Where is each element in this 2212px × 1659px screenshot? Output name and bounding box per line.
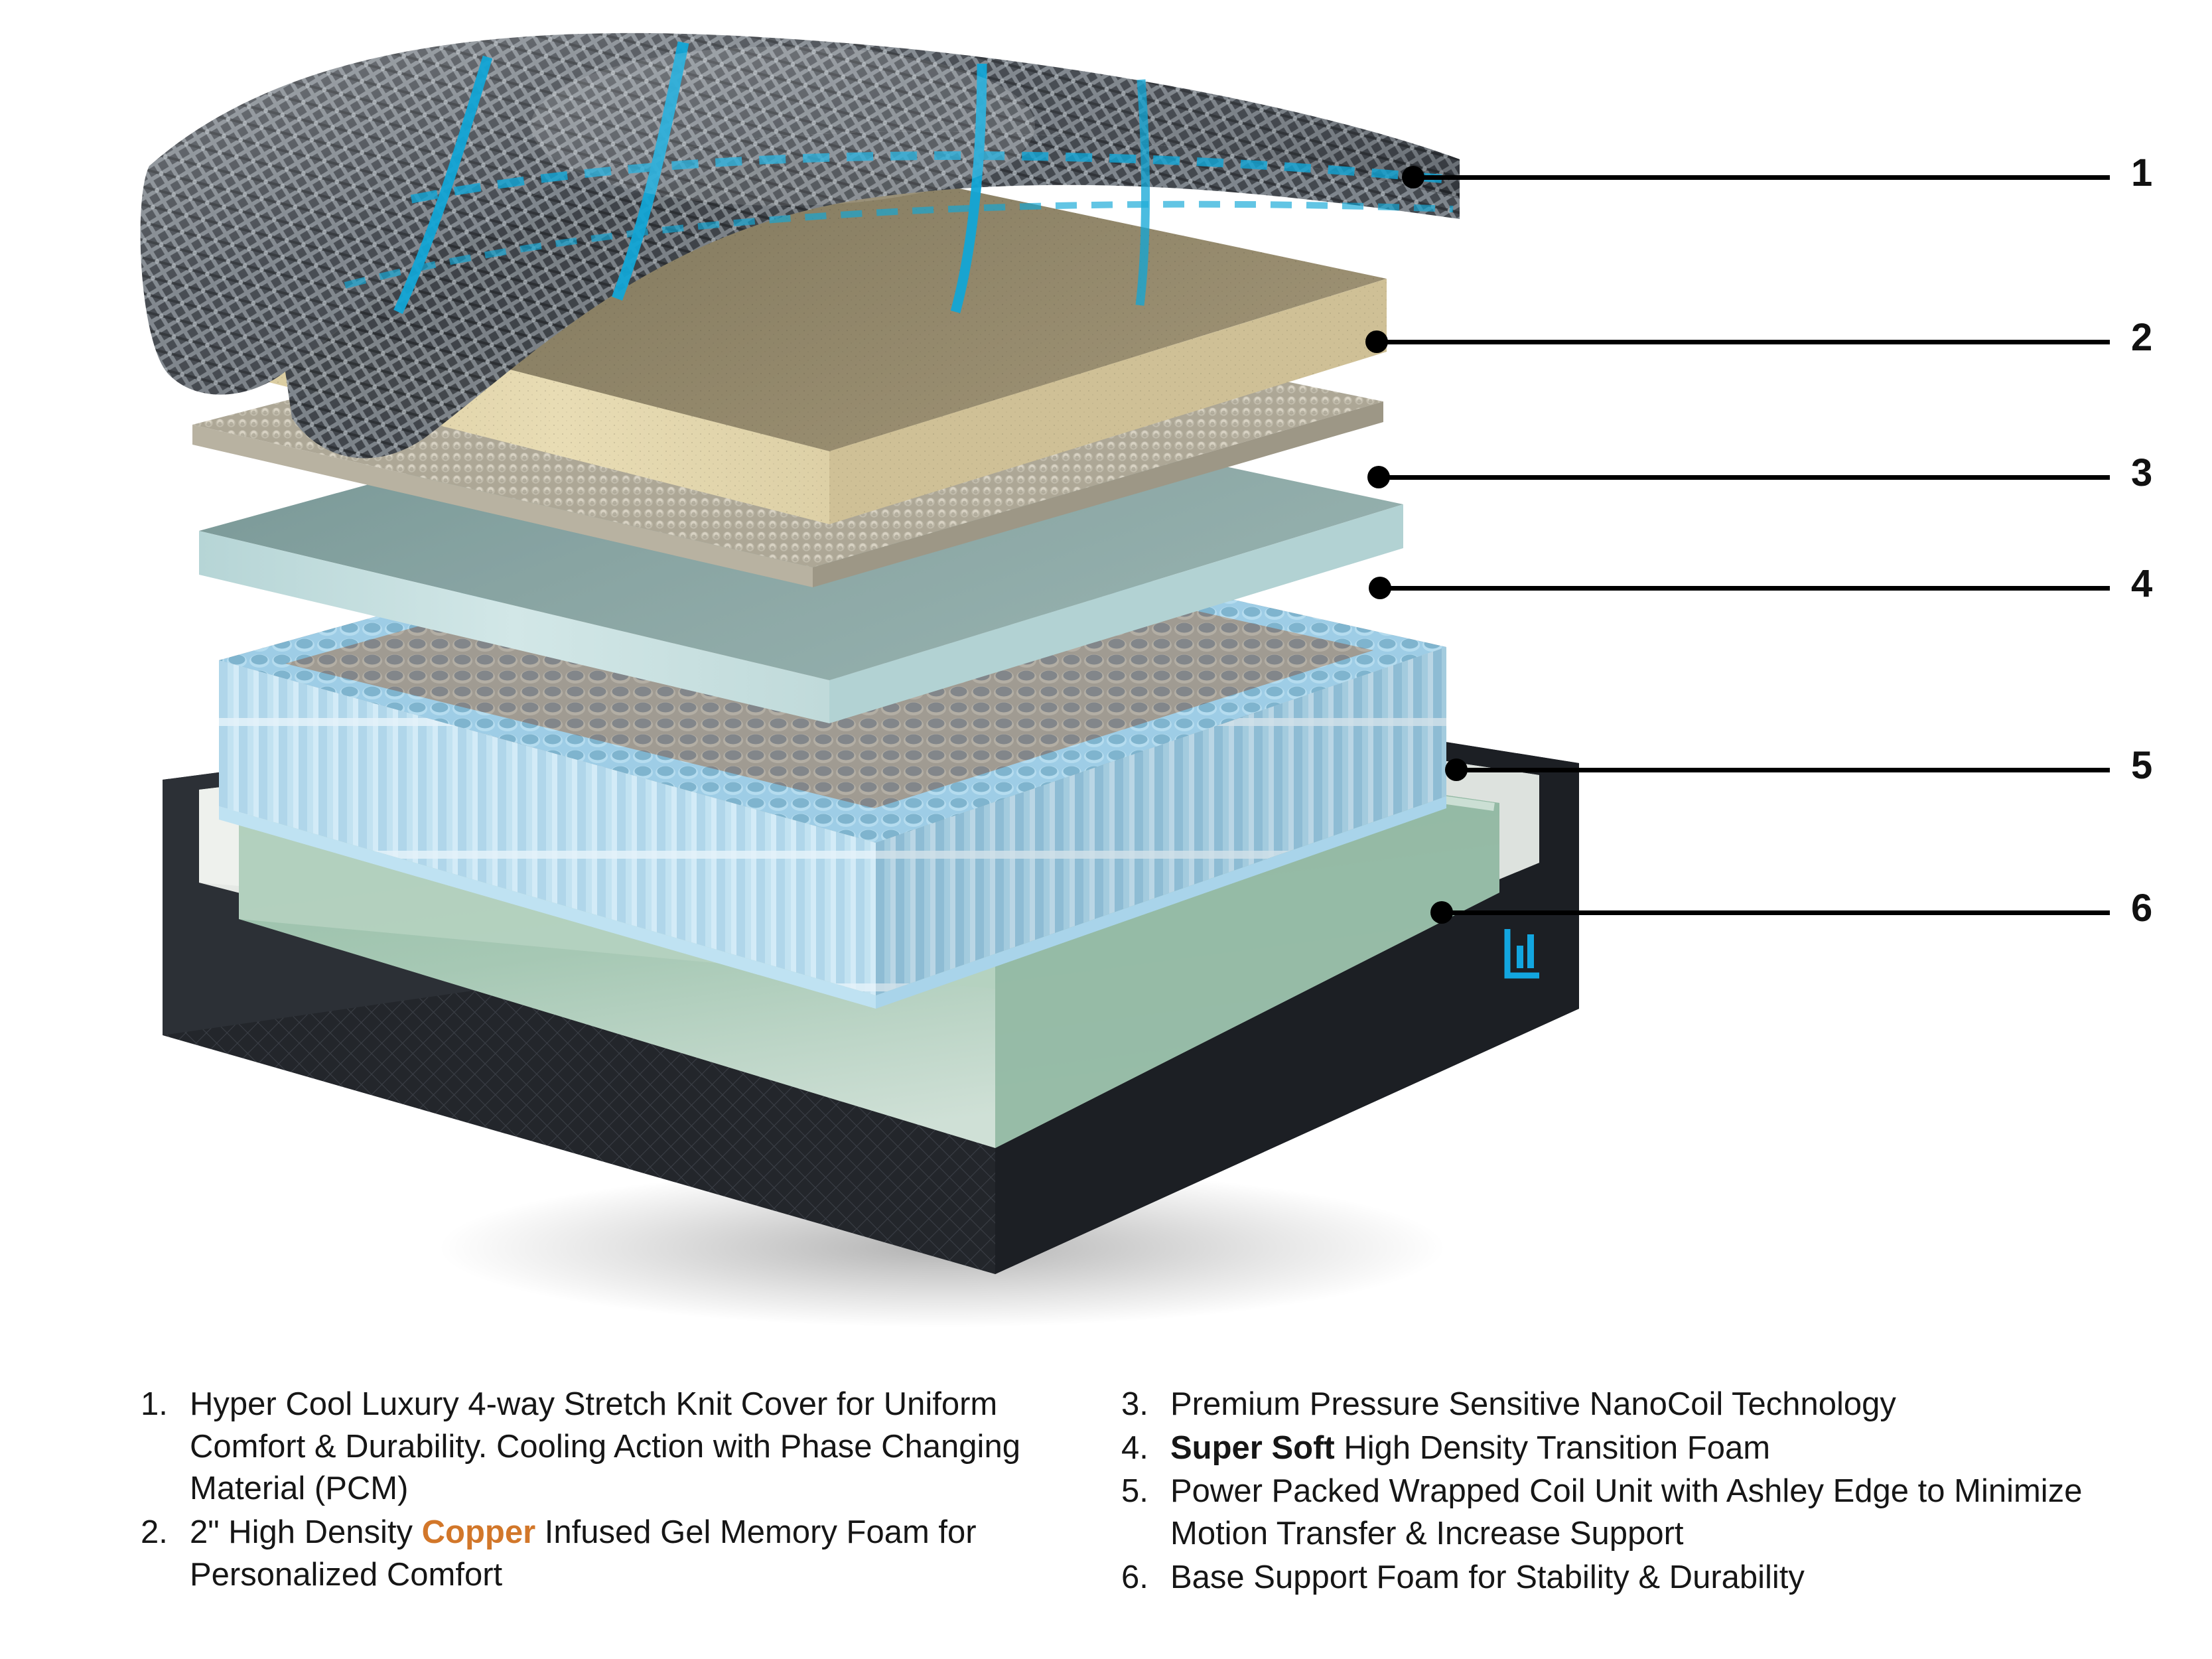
legend-marker-1: 1. [141, 1384, 190, 1426]
mattress-layer-diagram-page: 1 2 3 4 5 6 1. Hyper Cool Luxury 4-way S… [0, 0, 2212, 1659]
legend-item-3: 3. Premium Pressure Sensitive NanoCoil T… [1121, 1384, 2209, 1426]
legend-item-2: 2. 2" High Density Copper Infused Gel Me… [141, 1512, 1121, 1596]
legend-text-4: Super Soft High Density Transition Foam [1170, 1427, 2119, 1470]
legend-text-5: Power Packed Wrapped Coil Unit with Ashl… [1170, 1471, 2119, 1555]
legend-marker-6: 6. [1121, 1557, 1170, 1599]
callout-number-3: 3 [2131, 454, 2152, 492]
legend-text-2-part-a: 2" High Density [190, 1514, 422, 1550]
callout-number-4: 4 [2131, 565, 2152, 603]
legend-text-6: Base Support Foam for Stability & Durabi… [1170, 1557, 2119, 1599]
callout-number-2: 2 [2131, 319, 2152, 357]
legend-super-soft-highlight: Super Soft [1170, 1430, 1335, 1466]
legend-text-1: Hyper Cool Luxury 4-way Stretch Knit Cov… [190, 1384, 1121, 1510]
legend-marker-5: 5. [1121, 1471, 1170, 1513]
callout-number-6: 6 [2131, 889, 2152, 928]
legend-item-1: 1. Hyper Cool Luxury 4-way Stretch Knit … [141, 1384, 1121, 1510]
legend-text-3: Premium Pressure Sensitive NanoCoil Tech… [1170, 1384, 2119, 1426]
callout-line-1 [1413, 175, 2110, 180]
callout-number-1: 1 [2131, 154, 2152, 192]
legend-marker-4: 4. [1121, 1427, 1170, 1470]
callout-line-6 [1442, 910, 2110, 915]
legend-copper-highlight: Copper [422, 1514, 536, 1550]
legend-column-right: 3. Premium Pressure Sensitive NanoCoil T… [1121, 1384, 2209, 1659]
legend-item-6: 6. Base Support Foam for Stability & Dur… [1121, 1557, 2209, 1599]
callout-line-3 [1379, 475, 2110, 480]
legend: 1. Hyper Cool Luxury 4-way Stretch Knit … [0, 1384, 2212, 1659]
callout-line-4 [1380, 586, 2110, 591]
callout-number-5: 5 [2131, 747, 2152, 785]
mattress-layers-svg [0, 0, 1659, 1360]
callout-line-5 [1456, 768, 2110, 772]
legend-text-4-part-b: High Density Transition Foam [1335, 1430, 1770, 1466]
legend-marker-2: 2. [141, 1512, 190, 1554]
legend-item-4: 4. Super Soft High Density Transition Fo… [1121, 1427, 2209, 1470]
legend-marker-3: 3. [1121, 1384, 1170, 1426]
callout-line-2 [1377, 340, 2110, 344]
legend-text-2: 2" High Density Copper Infused Gel Memor… [190, 1512, 1121, 1596]
legend-column-left: 1. Hyper Cool Luxury 4-way Stretch Knit … [0, 1384, 1121, 1659]
exploded-mattress-illustration: 1 2 3 4 5 6 [0, 0, 1659, 1360]
legend-item-5: 5. Power Packed Wrapped Coil Unit with A… [1121, 1471, 2209, 1555]
